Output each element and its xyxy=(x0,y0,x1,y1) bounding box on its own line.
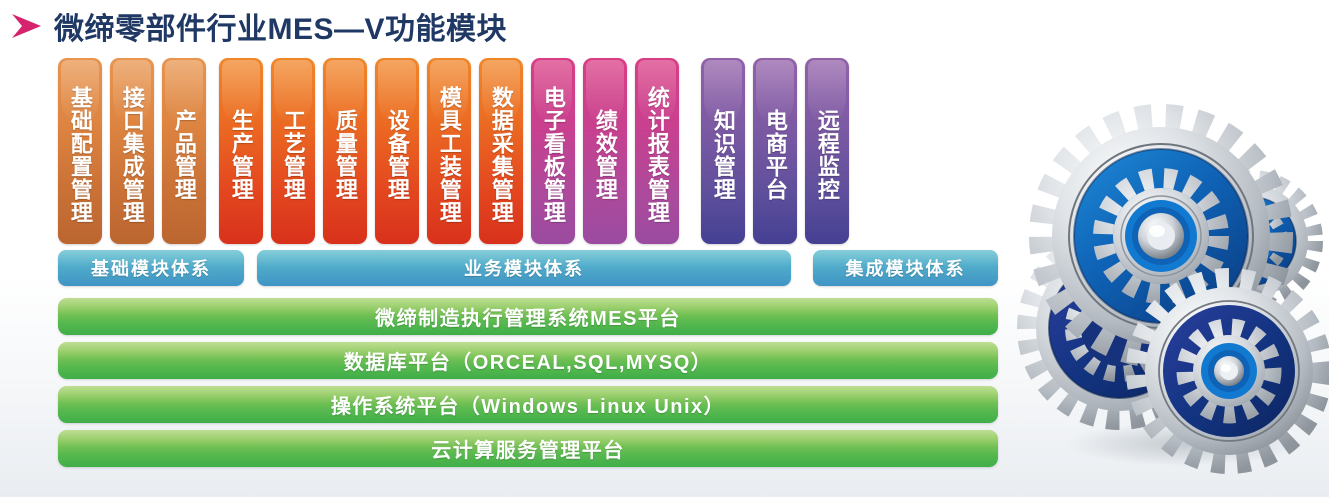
module-column-label: 工艺管理 xyxy=(281,101,305,201)
platform-stack: 微缔制造执行管理系统MES平台 数据库平台（ORCEAL,SQL,MYSQ） 操… xyxy=(58,298,998,467)
module-system-band: 基础模块体系 业务模块体系 集成模块体系 xyxy=(58,250,998,286)
platform-bar-mes[interactable]: 微缔制造执行管理系统MES平台 xyxy=(58,298,998,335)
band-集成模块体系[interactable]: 集成模块体系 xyxy=(813,250,998,286)
module-column-数据采集管理[interactable]: 数据采集管理 xyxy=(479,58,523,244)
arrow-right-icon xyxy=(10,11,44,41)
module-column-工艺管理[interactable]: 工艺管理 xyxy=(271,58,315,244)
module-column-label: 绩效管理 xyxy=(593,101,617,201)
module-column-label: 模具工装管理 xyxy=(437,78,461,224)
module-column-远程监控[interactable]: 远程监控 xyxy=(805,58,849,244)
platform-bar-database[interactable]: 数据库平台（ORCEAL,SQL,MYSQ） xyxy=(58,342,998,379)
module-column-label: 数据采集管理 xyxy=(489,78,513,224)
module-column-质量管理[interactable]: 质量管理 xyxy=(323,58,367,244)
module-column-label: 电商平台 xyxy=(763,101,787,201)
module-column-基础配置管理[interactable]: 基础配置管理 xyxy=(58,58,102,244)
module-column-label: 远程监控 xyxy=(815,101,839,201)
module-column-label: 产品管理 xyxy=(172,101,196,201)
page-title: 微缔零部件行业MES—V功能模块 xyxy=(54,4,507,48)
platform-bar-os[interactable]: 操作系统平台（Windows Linux Unix） xyxy=(58,386,998,423)
module-column-统计报表管理[interactable]: 统计报表管理 xyxy=(635,58,679,244)
module-column-label: 接口集成管理 xyxy=(120,78,144,224)
interlocking-gears-image xyxy=(1009,76,1329,486)
module-group-business: 生产管理 工艺管理 质量管理 设备管理 模具工装管理 数据采集管理 电子看板管理… xyxy=(219,58,679,244)
band-基础模块体系[interactable]: 基础模块体系 xyxy=(58,250,244,286)
module-column-label: 基础配置管理 xyxy=(68,78,92,224)
module-column-知识管理[interactable]: 知识管理 xyxy=(701,58,745,244)
module-column-电子看板管理[interactable]: 电子看板管理 xyxy=(531,58,575,244)
band-业务模块体系[interactable]: 业务模块体系 xyxy=(257,250,791,286)
module-group-basic: 基础配置管理 接口集成管理 产品管理 xyxy=(58,58,206,244)
gears-icon xyxy=(1009,76,1329,486)
platform-bar-cloud[interactable]: 云计算服务管理平台 xyxy=(58,430,998,467)
module-column-label: 知识管理 xyxy=(711,101,735,201)
module-column-生产管理[interactable]: 生产管理 xyxy=(219,58,263,244)
module-column-模具工装管理[interactable]: 模具工装管理 xyxy=(427,58,471,244)
module-column-label: 生产管理 xyxy=(229,101,253,201)
module-column-label: 电子看板管理 xyxy=(541,78,565,224)
module-column-电商平台[interactable]: 电商平台 xyxy=(753,58,797,244)
module-column-绩效管理[interactable]: 绩效管理 xyxy=(583,58,627,244)
module-group-integration: 知识管理 电商平台 远程监控 xyxy=(701,58,849,244)
module-column-接口集成管理[interactable]: 接口集成管理 xyxy=(110,58,154,244)
module-column-产品管理[interactable]: 产品管理 xyxy=(162,58,206,244)
page-title-row: 微缔零部件行业MES—V功能模块 xyxy=(10,4,507,48)
module-column-label: 统计报表管理 xyxy=(645,78,669,224)
module-column-设备管理[interactable]: 设备管理 xyxy=(375,58,419,244)
module-column-label: 设备管理 xyxy=(385,101,409,201)
module-column-label: 质量管理 xyxy=(333,101,357,201)
module-columns: 基础配置管理 接口集成管理 产品管理 生产管理 工艺管理 质量管理 设备管理 模… xyxy=(58,58,998,244)
